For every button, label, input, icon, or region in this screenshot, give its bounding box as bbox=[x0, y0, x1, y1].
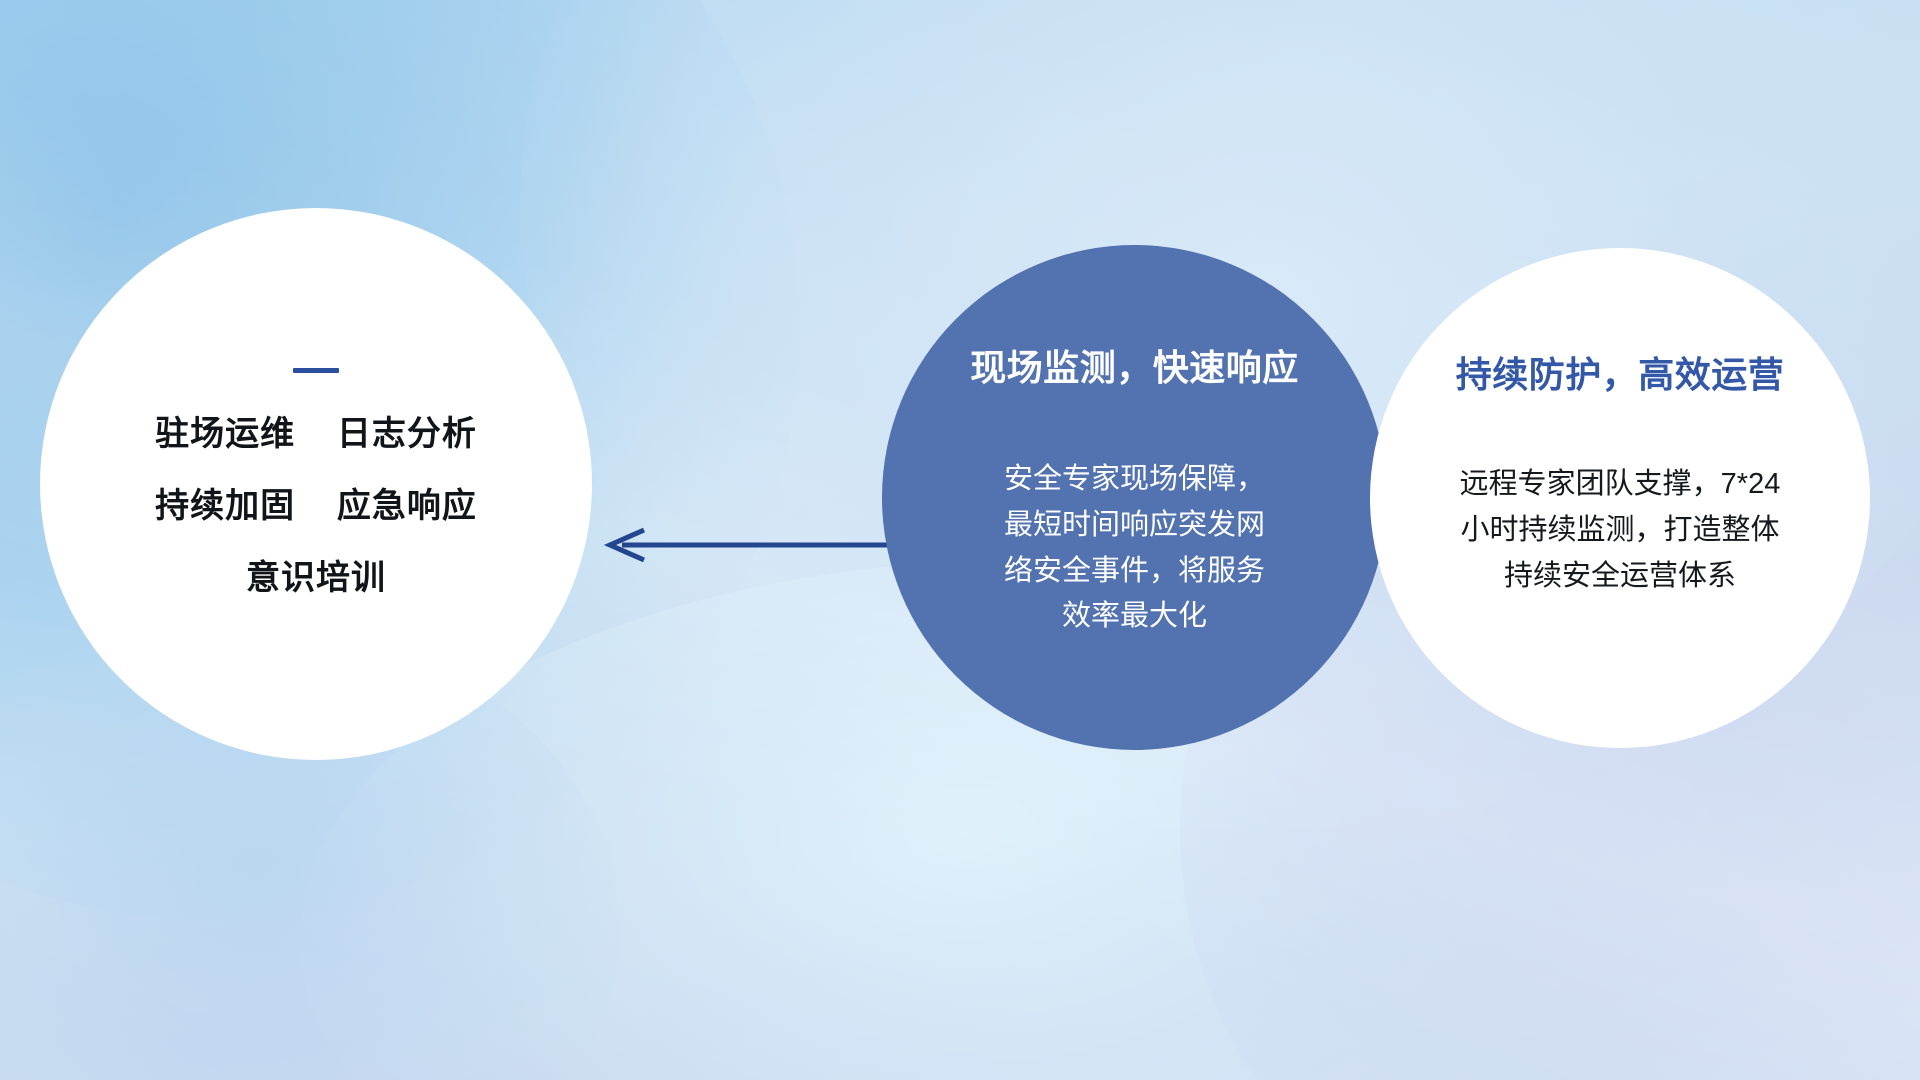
continuous-protection-body: 远程专家团队支撑，7*24 小时持续监测，打造整体 持续安全运营体系 bbox=[1392, 462, 1848, 599]
capability-line-1: 驻场运维 日志分析 bbox=[74, 417, 558, 451]
onsite-monitoring-title: 现场监测，快速响应 bbox=[908, 339, 1361, 391]
capabilities-circle[interactable]: 驻场运维 日志分析 持续加固 应急响应 意识培训 bbox=[40, 208, 592, 760]
continuous-protection-content: 持续防护，高效运营 远程专家团队支撑，7*24 小时持续监测，打造整体 持续安全… bbox=[1370, 346, 1870, 599]
onsite-monitoring-body: 安全专家现场保障， 最短时间响应突发网 络安全事件，将服务 效率最大化 bbox=[908, 457, 1361, 640]
capability-line-3: 意识培训 bbox=[74, 561, 558, 595]
capabilities-content: 驻场运维 日志分析 持续加固 应急响应 意识培训 bbox=[40, 368, 592, 595]
slide-canvas: 驻场运维 日志分析 持续加固 应急响应 意识培训 现场监测，快速响应 安全专家现… bbox=[0, 0, 1920, 1080]
onsite-monitoring-circle[interactable]: 现场监测，快速响应 安全专家现场保障， 最短时间响应突发网 络安全事件，将服务 … bbox=[882, 245, 1387, 750]
capability-line-2: 持续加固 应急响应 bbox=[74, 489, 558, 523]
accent-dash-icon bbox=[293, 368, 339, 373]
continuous-protection-title: 持续防护，高效运营 bbox=[1392, 346, 1848, 398]
flow-arrow-left-icon bbox=[600, 520, 910, 570]
continuous-protection-circle[interactable]: 持续防护，高效运营 远程专家团队支撑，7*24 小时持续监测，打造整体 持续安全… bbox=[1370, 248, 1870, 748]
onsite-monitoring-content: 现场监测，快速响应 安全专家现场保障， 最短时间响应突发网 络安全事件，将服务 … bbox=[882, 339, 1387, 640]
